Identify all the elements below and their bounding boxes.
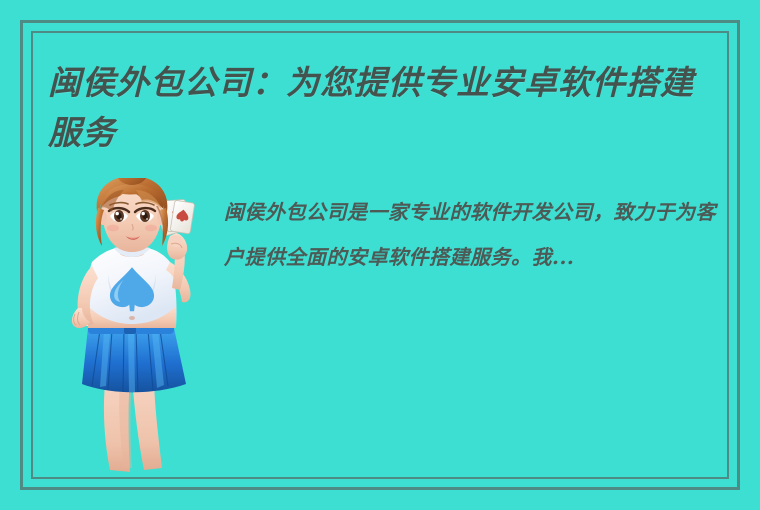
page-title: 闽侯外包公司：为您提供专业安卓软件搭建服务 — [48, 58, 708, 158]
poster-card: 闽侯外包公司：为您提供专业安卓软件搭建服务 — [0, 0, 760, 510]
article-excerpt: 闽侯外包公司是一家专业的软件开发公司，致力于为客户提供全面的安卓软件搭建服务。我… — [224, 190, 724, 280]
illustration-anime-girl — [58, 178, 206, 476]
